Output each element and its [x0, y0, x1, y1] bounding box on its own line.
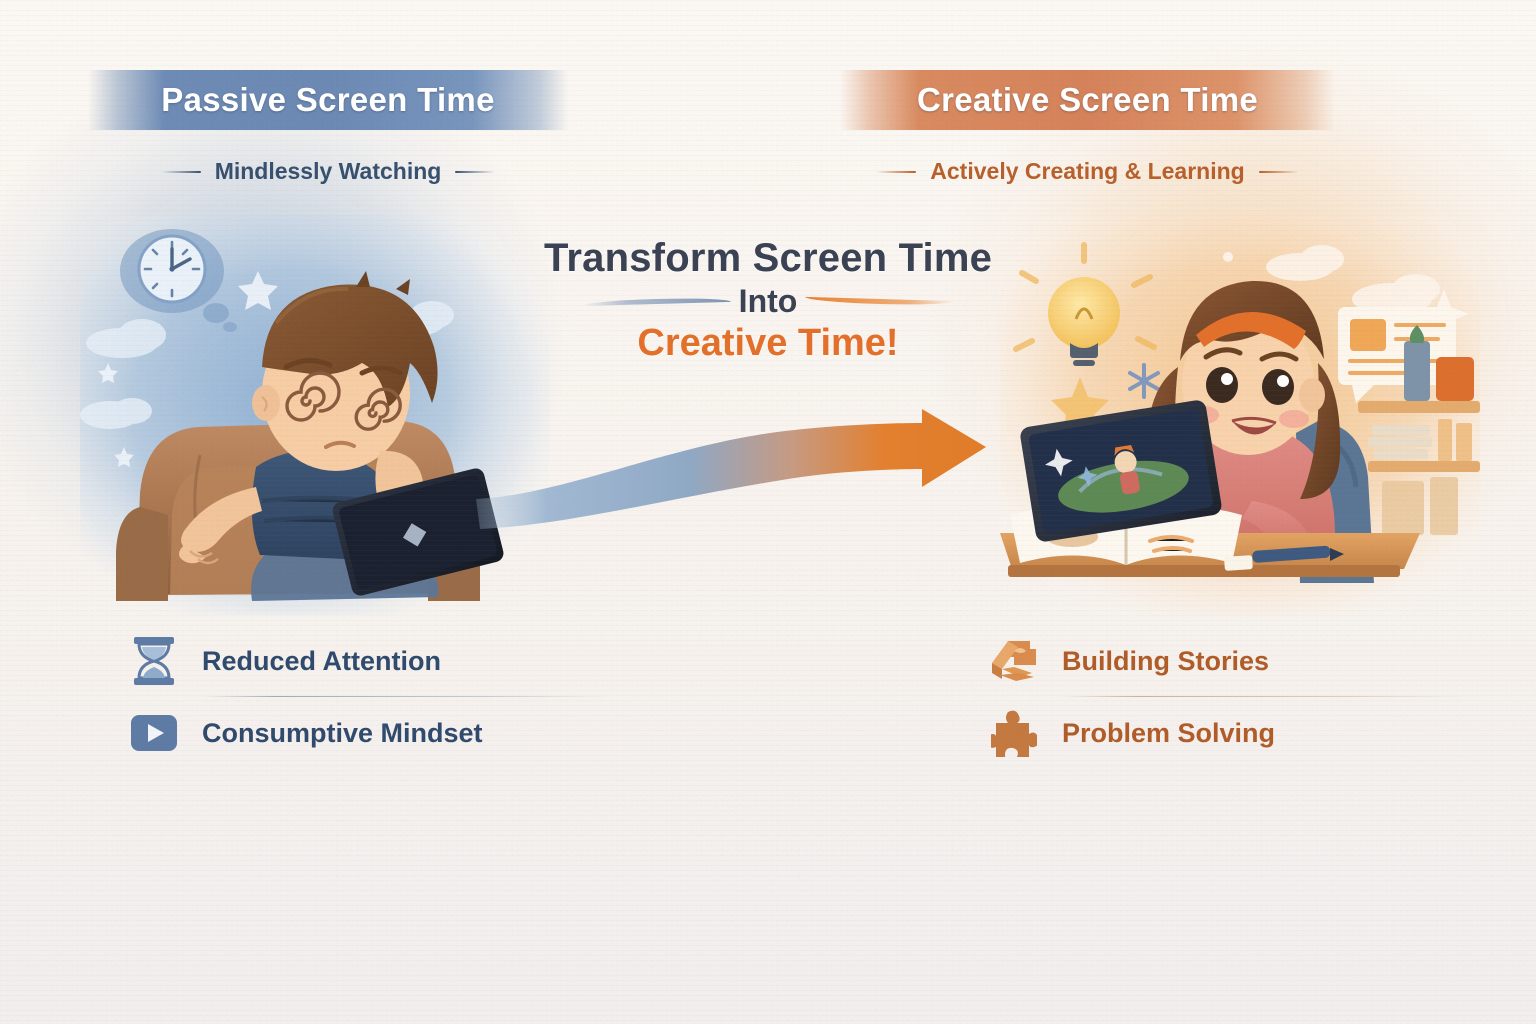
list-item: Building Stories	[988, 625, 1408, 697]
right-banner: Creative Screen Time	[840, 70, 1335, 130]
list-item: Reduced Attention	[128, 625, 548, 697]
left-feature-list: Reduced Attention Consumptive Mindset	[128, 625, 548, 769]
left-banner: Passive Screen Time	[88, 70, 568, 130]
left-banner-title: Passive Screen Time	[161, 81, 494, 119]
center-headline: Transform Screen Time Into Creative Time…	[468, 236, 1068, 365]
left-subtitle-text: Mindlessly Watching	[215, 158, 442, 185]
list-item-label: Building Stories	[1062, 646, 1269, 677]
headline-swoosh-right	[805, 297, 955, 306]
left-subtitle: Mindlessly Watching	[88, 158, 568, 185]
right-banner-title: Creative Screen Time	[917, 81, 1258, 119]
list-item: Problem Solving	[988, 697, 1408, 769]
poster-canvas: Passive Screen Time Mindlessly Watching …	[0, 0, 1536, 1024]
list-item-label: Problem Solving	[1062, 718, 1275, 749]
list-item-label: Consumptive Mindset	[202, 718, 483, 749]
list-item-label: Reduced Attention	[202, 646, 441, 677]
left-subtitle-dash-right	[455, 171, 495, 173]
right-illustration	[1000, 215, 1480, 615]
hourglass-icon	[128, 635, 180, 687]
right-feature-list: Building Stories Problem Solving	[988, 625, 1408, 769]
left-subtitle-dash-left	[161, 171, 201, 173]
right-subtitle-dash-left	[876, 171, 916, 173]
list-item: Consumptive Mindset	[128, 697, 548, 769]
puzzle-piece-icon	[988, 707, 1040, 759]
headline-swoosh-left	[581, 297, 731, 306]
right-subtitle-text: Actively Creating & Learning	[930, 158, 1244, 185]
right-subtitle-dash-right	[1259, 171, 1299, 173]
building-blocks-icon	[988, 635, 1040, 687]
headline-line-2: Into	[739, 283, 798, 320]
transformation-arrow	[470, 395, 1010, 535]
headline-line-3: Creative Time!	[468, 322, 1068, 365]
headline-line-2-row: Into	[468, 283, 1068, 320]
right-subtitle: Actively Creating & Learning	[840, 158, 1335, 185]
play-button-icon	[128, 707, 180, 759]
headline-line-1: Transform Screen Time	[468, 236, 1068, 281]
